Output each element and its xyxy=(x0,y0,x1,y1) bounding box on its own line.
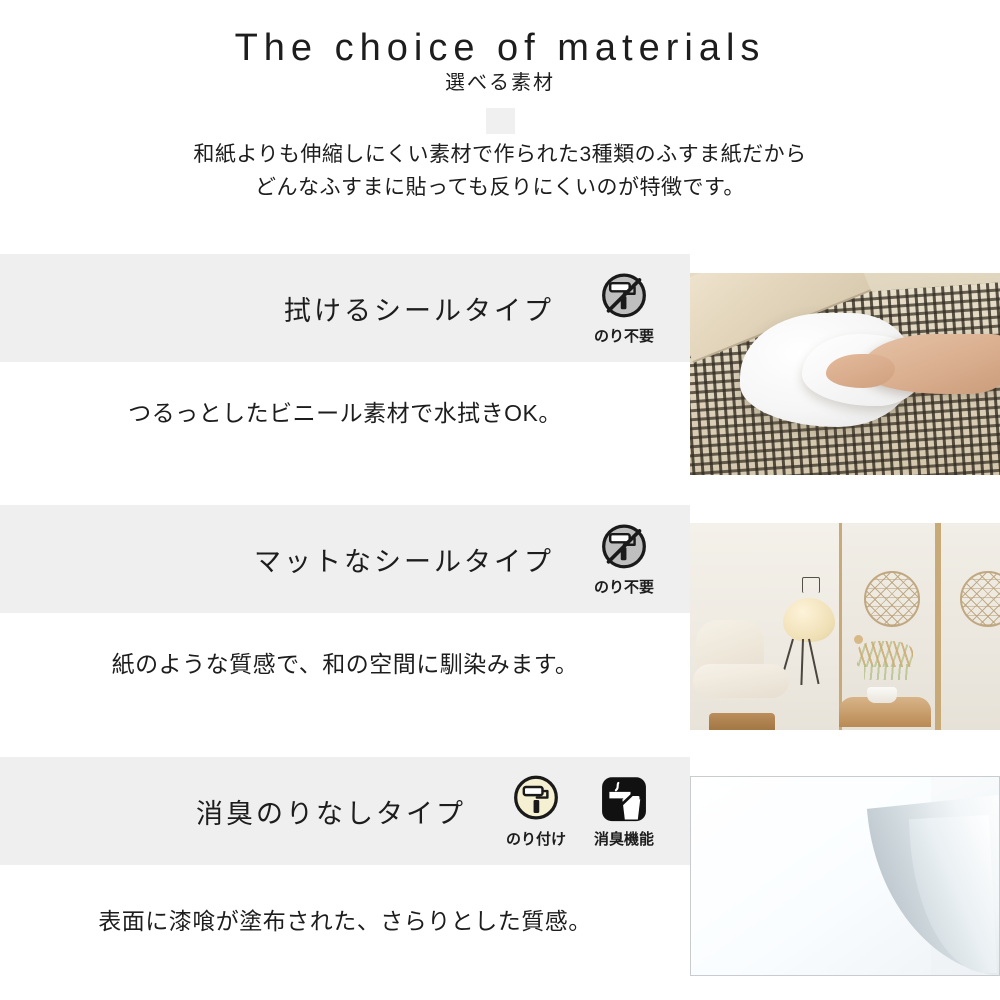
photo-chair-base xyxy=(709,713,775,730)
photo-dried-grass-lower xyxy=(864,664,910,680)
section-title-row: 消臭のりなしタイプ のり付け xyxy=(0,757,690,865)
page-title: The choice of materials xyxy=(0,24,1000,72)
material-section-wipeable: 拭けるシールタイプ のり不要 つるっとしたビニール素材で水拭きOK。 xyxy=(0,254,1000,475)
page-lead-text: 和紙よりも伸縮しにくい素材で作られた3種類のふすま紙だから どんなふすまに貼って… xyxy=(0,138,1000,204)
product-material-feature-page: The choice of materials 選べる素材 和紙よりも伸縮しにく… xyxy=(0,0,1000,1000)
section-badges: のり不要 xyxy=(588,271,660,346)
no-glue-roller-icon xyxy=(598,522,650,574)
page-header: The choice of materials 選べる素材 和紙よりも伸縮しにく… xyxy=(0,0,1000,240)
material-section-matte: マットなシールタイプ のり不要 紙のような質感で、和の空間に馴染みます。 xyxy=(0,505,1000,730)
badge-no-glue: のり不要 xyxy=(588,271,660,346)
header-divider-square xyxy=(486,108,515,134)
photo-lamp-shade xyxy=(783,598,835,642)
no-glue-roller-icon xyxy=(598,271,650,323)
badge-no-glue: のり不要 xyxy=(588,522,660,597)
section-caption: 紙のような質感で、和の空間に馴染みます。 xyxy=(0,645,690,679)
section-badges: のり付け 消臭機能 xyxy=(500,774,660,849)
badge-glue-included: のり付け xyxy=(500,774,572,849)
page-lead-line-2: どんなふすまに貼っても反りにくいのが特徴です。 xyxy=(0,171,1000,204)
section-title: マットなシールタイプ xyxy=(254,540,554,579)
badge-deodorize: 消臭機能 xyxy=(588,774,660,849)
photo-plant-pot xyxy=(867,687,897,703)
photo-fingers xyxy=(826,354,894,388)
badge-label: 消臭機能 xyxy=(594,828,654,849)
photo-chair-seat xyxy=(693,664,789,698)
photo-lamp-frame xyxy=(802,577,820,593)
photo-round-lattice-window xyxy=(864,571,920,627)
photo-white-paper-curled-corner xyxy=(690,776,1000,976)
section-title: 拭けるシールタイプ xyxy=(284,289,554,328)
badge-label: のり不要 xyxy=(594,576,654,597)
glue-roller-icon xyxy=(510,774,562,826)
deodorize-icon xyxy=(598,774,650,826)
section-caption: 表面に漆喰が塗布された、さらりとした質感。 xyxy=(0,902,690,936)
photo-japanese-interior-fusuma xyxy=(690,523,1000,730)
section-title-row: 拭けるシールタイプ のり不要 xyxy=(0,254,690,362)
badge-label: のり付け xyxy=(506,828,566,849)
section-title-row: マットなシールタイプ のり不要 xyxy=(0,505,690,613)
page-lead-line-1: 和紙よりも伸縮しにくい素材で作られた3種類のふすま紙だから xyxy=(0,138,1000,171)
section-badges: のり不要 xyxy=(588,522,660,597)
section-caption: つるっとしたビニール素材で水拭きOK。 xyxy=(0,394,690,428)
photo-wiping-towel-on-woven-mat xyxy=(690,273,1000,475)
badge-label: のり不要 xyxy=(594,325,654,346)
material-section-deodorizing: 消臭のりなしタイプ のり付け xyxy=(0,757,1000,1000)
page-subtitle: 選べる素材 xyxy=(0,68,1000,98)
section-title: 消臭のりなしタイプ xyxy=(196,792,466,831)
